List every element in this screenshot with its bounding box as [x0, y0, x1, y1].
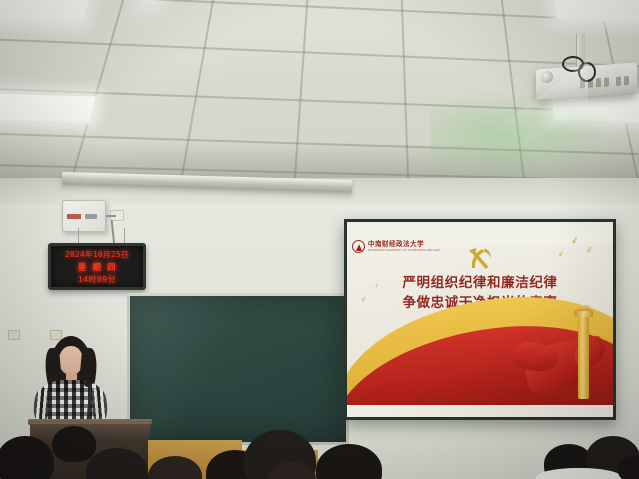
projection-screen: 中南财经政法大学 ZHONGNAN UNIVERSITY OF ECONOMIC…	[347, 222, 613, 417]
microphone-head	[84, 380, 91, 387]
university-crest-icon	[352, 240, 365, 253]
huabiao-capital	[574, 310, 593, 317]
party-hammer-sickle-emblem	[465, 246, 495, 272]
ceiling-light	[138, 0, 162, 6]
presentation-slide: 中南财经政法大学 ZHONGNAN UNIVERSITY OF ECONOMIC…	[347, 222, 613, 417]
cable	[106, 215, 116, 217]
led-date-line: 2024年10月25日	[65, 249, 129, 260]
university-name-cn: 中南财经政法大学	[368, 241, 440, 248]
dove-icon: ➶	[557, 250, 564, 258]
projector-cable	[578, 62, 596, 82]
ceiling-light	[551, 0, 639, 24]
led-weekday-line: 星 期 四	[78, 261, 116, 273]
wall-speaker	[62, 200, 106, 232]
audience-head	[618, 456, 639, 479]
slide-title-line-1: 严明组织纪律和廉洁纪律	[347, 274, 613, 294]
projection-screen-frame: 中南财经政法大学 ZHONGNAN UNIVERSITY OF ECONOMIC…	[344, 219, 616, 420]
audience-head	[52, 426, 96, 462]
led-time-line: 14时09分	[78, 274, 116, 285]
ceiling-light	[0, 0, 92, 24]
university-name-en: ZHONGNAN UNIVERSITY OF ECONOMICS AND LAW	[368, 249, 440, 252]
lecture-hall-photo: 2024年10月25日 星 期 四 14时09分 中南财经政法大学 ZHONGN…	[0, 0, 639, 479]
presenter-arm-right	[91, 387, 109, 422]
audience-shoulder	[536, 468, 622, 479]
led-clock-display: 2024年10月25日 星 期 四 14时09分	[48, 243, 146, 290]
wall-socket[interactable]	[8, 330, 20, 340]
dove-icon: ➶	[585, 245, 593, 254]
ceiling-light	[0, 92, 97, 123]
presenter	[34, 336, 108, 428]
university-logo: 中南财经政法大学 ZHONGNAN UNIVERSITY OF ECONOMIC…	[352, 240, 440, 253]
huabiao-column	[578, 313, 589, 399]
huabiao-top	[577, 305, 590, 311]
blackboard	[127, 293, 349, 445]
